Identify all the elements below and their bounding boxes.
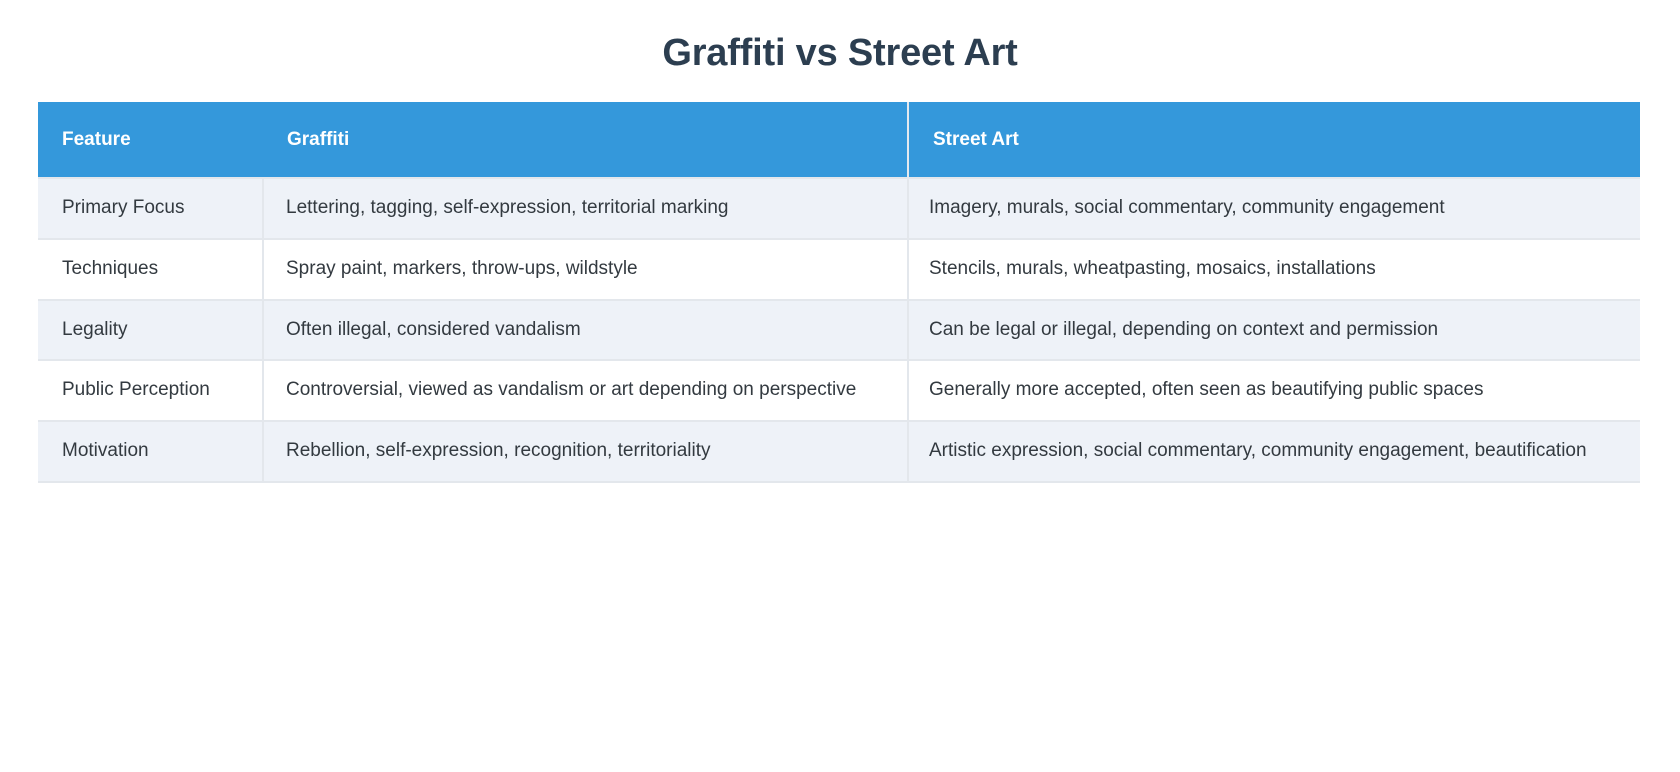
page-root: Graffiti vs Street Art Feature Graffiti … (0, 0, 1680, 772)
cell-feature: Public Perception (38, 360, 263, 421)
cell-feature: Primary Focus (38, 178, 263, 239)
table-row: Techniques Spray paint, markers, throw-u… (38, 239, 1640, 300)
column-header-street-art: Street Art (908, 102, 1640, 178)
cell-graffiti: Spray paint, markers, throw-ups, wildsty… (263, 239, 908, 300)
table-row: Legality Often illegal, considered vanda… (38, 300, 1640, 361)
cell-feature: Motivation (38, 421, 263, 482)
cell-street-art: Can be legal or illegal, depending on co… (908, 300, 1640, 361)
cell-graffiti: Controversial, viewed as vandalism or ar… (263, 360, 908, 421)
column-header-feature: Feature (38, 102, 263, 178)
cell-street-art: Generally more accepted, often seen as b… (908, 360, 1640, 421)
table-row: Primary Focus Lettering, tagging, self-e… (38, 178, 1640, 239)
cell-street-art: Artistic expression, social commentary, … (908, 421, 1640, 482)
table-row: Public Perception Controversial, viewed … (38, 360, 1640, 421)
table-body: Primary Focus Lettering, tagging, self-e… (38, 178, 1640, 482)
cell-street-art: Stencils, murals, wheatpasting, mosaics,… (908, 239, 1640, 300)
page-title: Graffiti vs Street Art (0, 0, 1680, 78)
cell-graffiti: Rebellion, self-expression, recognition,… (263, 421, 908, 482)
comparison-table: Feature Graffiti Street Art Primary Focu… (38, 102, 1640, 483)
cell-feature: Legality (38, 300, 263, 361)
cell-feature: Techniques (38, 239, 263, 300)
cell-graffiti: Lettering, tagging, self-expression, ter… (263, 178, 908, 239)
cell-graffiti: Often illegal, considered vandalism (263, 300, 908, 361)
table-header-row: Feature Graffiti Street Art (38, 102, 1640, 178)
table-row: Motivation Rebellion, self-expression, r… (38, 421, 1640, 482)
column-header-graffiti: Graffiti (263, 102, 908, 178)
cell-street-art: Imagery, murals, social commentary, comm… (908, 178, 1640, 239)
table-header: Feature Graffiti Street Art (38, 102, 1640, 178)
comparison-table-wrapper: Feature Graffiti Street Art Primary Focu… (38, 102, 1640, 483)
